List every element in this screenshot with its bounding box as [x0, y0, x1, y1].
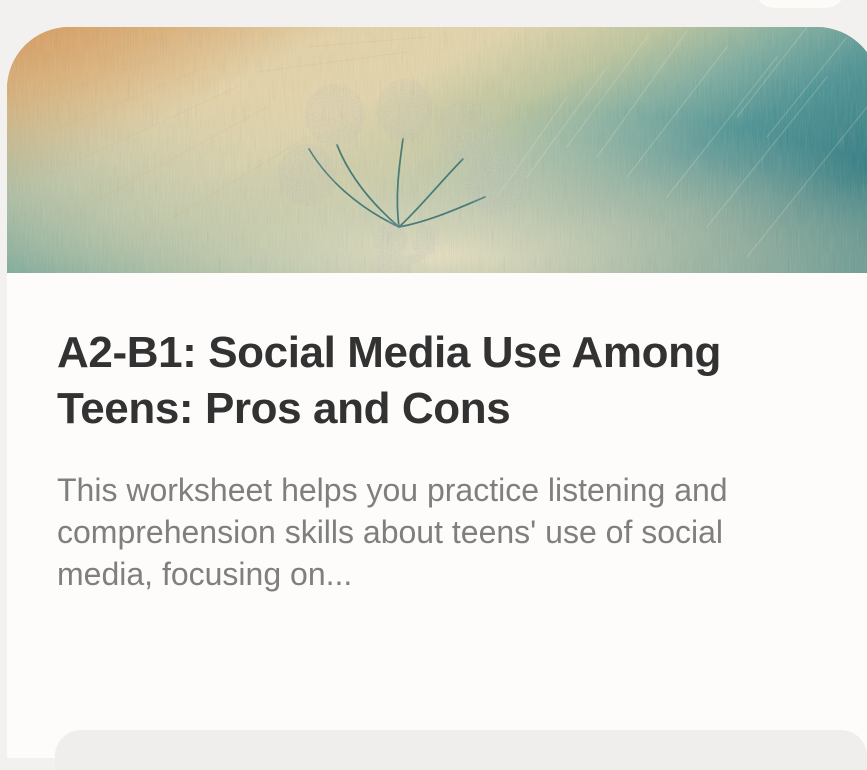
- worksheet-card[interactable]: A2-B1: Social Media Use Among Teens: Pro…: [7, 27, 867, 758]
- worksheet-description: This worksheet helps you practice listen…: [57, 470, 813, 596]
- worksheet-action-bar[interactable]: [55, 730, 867, 770]
- person-balloon-left: [278, 144, 336, 206]
- worksheet-hero-image: [7, 27, 867, 273]
- worksheet-card-body: A2-B1: Social Media Use Among Teens: Pro…: [7, 273, 867, 595]
- hero-illustration: [7, 27, 867, 273]
- heart-balloon: [305, 84, 365, 146]
- dots-balloon: [466, 150, 528, 214]
- app-viewport: A2-B1: Social Media Use Among Teens: Pro…: [0, 0, 867, 770]
- page-title: A2-B1: Social Media Use Among Teens: Pro…: [57, 325, 767, 437]
- person-balloon-top: [376, 79, 432, 141]
- floating-pill-control[interactable]: [754, 0, 846, 8]
